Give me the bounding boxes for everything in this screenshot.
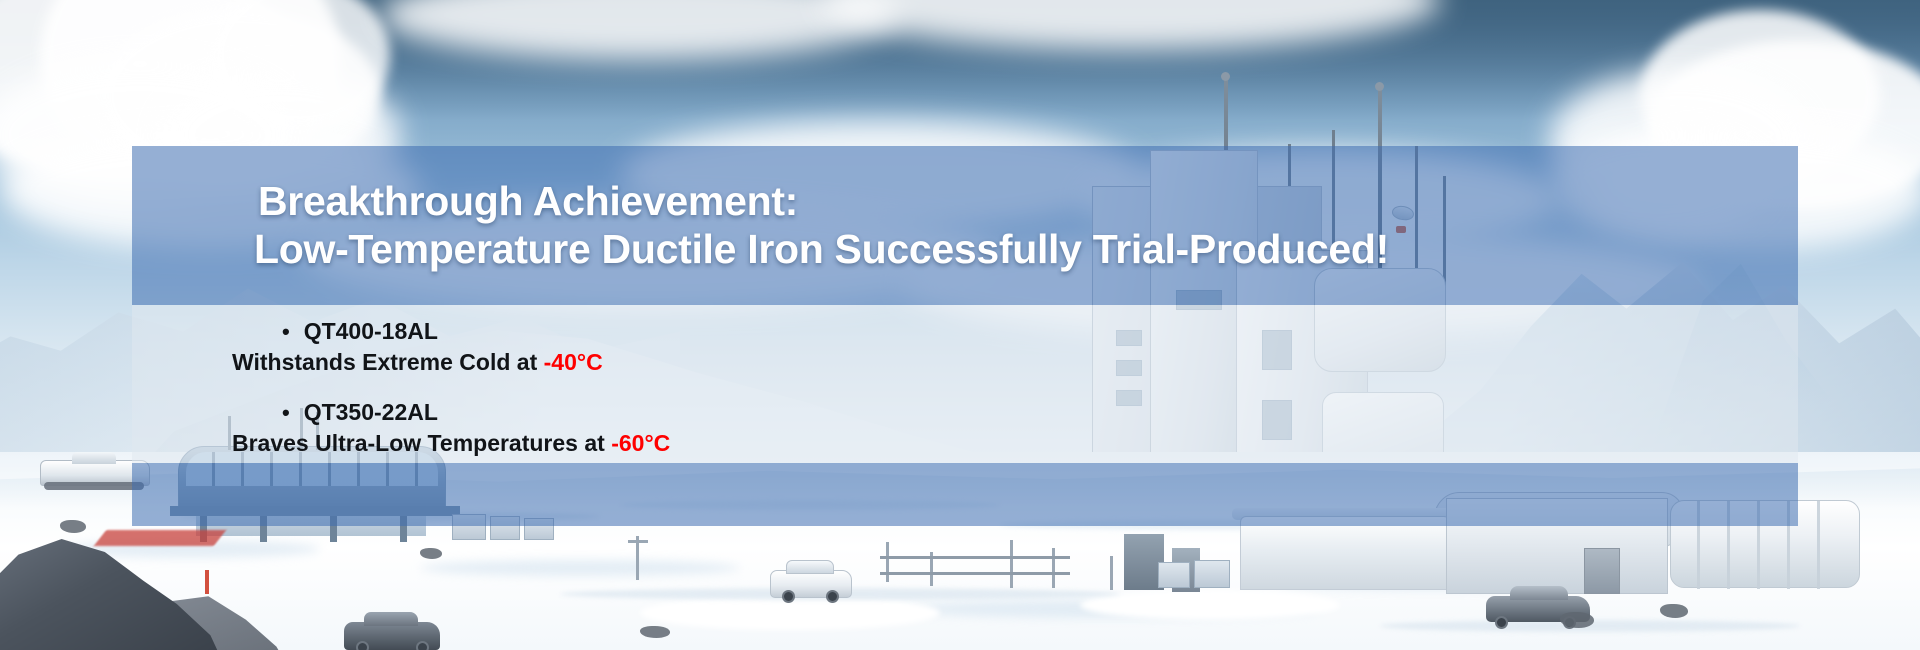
bullet-description: Braves Ultra-Low Temperatures at -60°C bbox=[232, 430, 1798, 457]
storage-crate bbox=[1194, 560, 1230, 588]
wheel-icon bbox=[826, 590, 839, 603]
red-marker-pole bbox=[205, 570, 209, 594]
bullet-row: • QT400-18AL bbox=[282, 317, 1798, 346]
antenna-cap-icon bbox=[1375, 82, 1384, 91]
sedan-cabin bbox=[1510, 586, 1568, 600]
bullet-dot-icon: • bbox=[282, 402, 290, 424]
wheel-icon bbox=[356, 641, 369, 650]
material-grade-label: QT350-22AL bbox=[304, 398, 438, 427]
wheel-icon bbox=[1495, 616, 1508, 629]
small-rock bbox=[60, 520, 86, 533]
warehouse-a bbox=[1240, 516, 1450, 590]
foreground-vehicle-cabin bbox=[364, 612, 418, 626]
bullet-dot-icon: • bbox=[282, 321, 290, 343]
power-pole-arm bbox=[628, 540, 648, 543]
text-overlay-panel: Breakthrough Achievement: Low-Temperatur… bbox=[132, 146, 1798, 526]
headline-line-1: Breakthrough Achievement: bbox=[258, 178, 1798, 226]
temperature-value: -60°C bbox=[611, 430, 670, 456]
antenna-cap-icon bbox=[1221, 72, 1230, 81]
power-pole-icon bbox=[1052, 548, 1055, 588]
headline-line-2: Low-Temperature Ductile Iron Successfull… bbox=[254, 226, 1798, 274]
footer-band bbox=[132, 463, 1798, 526]
red-ground-marker bbox=[94, 530, 227, 546]
bullet-description-text: Braves Ultra-Low Temperatures at bbox=[232, 430, 611, 456]
wheel-icon bbox=[416, 641, 429, 650]
suv-cabin bbox=[786, 560, 834, 574]
title-band: Breakthrough Achievement: Low-Temperatur… bbox=[132, 146, 1798, 305]
snow-shadow bbox=[420, 560, 740, 576]
snow-vehicle-track bbox=[44, 482, 144, 490]
snow-vehicle-cabin bbox=[72, 452, 116, 464]
bullets-band: • QT400-18AL Withstands Extreme Cold at … bbox=[132, 305, 1798, 463]
warehouse-door bbox=[1584, 548, 1620, 594]
wheel-icon bbox=[782, 590, 795, 603]
power-pole-icon bbox=[1010, 540, 1013, 588]
pipeline-rail bbox=[880, 556, 1070, 559]
small-rock bbox=[1660, 604, 1688, 618]
bullet-description-text: Withstands Extreme Cold at bbox=[232, 349, 544, 375]
pipeline-rail bbox=[880, 572, 1070, 575]
small-rock bbox=[640, 626, 670, 638]
storage-crate bbox=[1158, 562, 1190, 588]
bullet-row: • QT350-22AL bbox=[282, 398, 1798, 427]
power-pole-icon bbox=[1110, 556, 1113, 590]
power-pole-icon bbox=[886, 542, 889, 582]
tank-rib bbox=[1817, 501, 1820, 589]
temperature-value: -40°C bbox=[544, 349, 603, 375]
small-rock bbox=[1560, 612, 1594, 628]
bullet-item: • QT350-22AL Braves Ultra-Low Temperatur… bbox=[258, 398, 1798, 457]
material-grade-label: QT400-18AL bbox=[304, 317, 438, 346]
promo-banner: Breakthrough Achievement: Low-Temperatur… bbox=[0, 0, 1920, 650]
bullet-description: Withstands Extreme Cold at -40°C bbox=[232, 349, 1798, 376]
bullet-item: • QT400-18AL Withstands Extreme Cold at … bbox=[258, 317, 1798, 376]
small-rock bbox=[420, 548, 442, 559]
